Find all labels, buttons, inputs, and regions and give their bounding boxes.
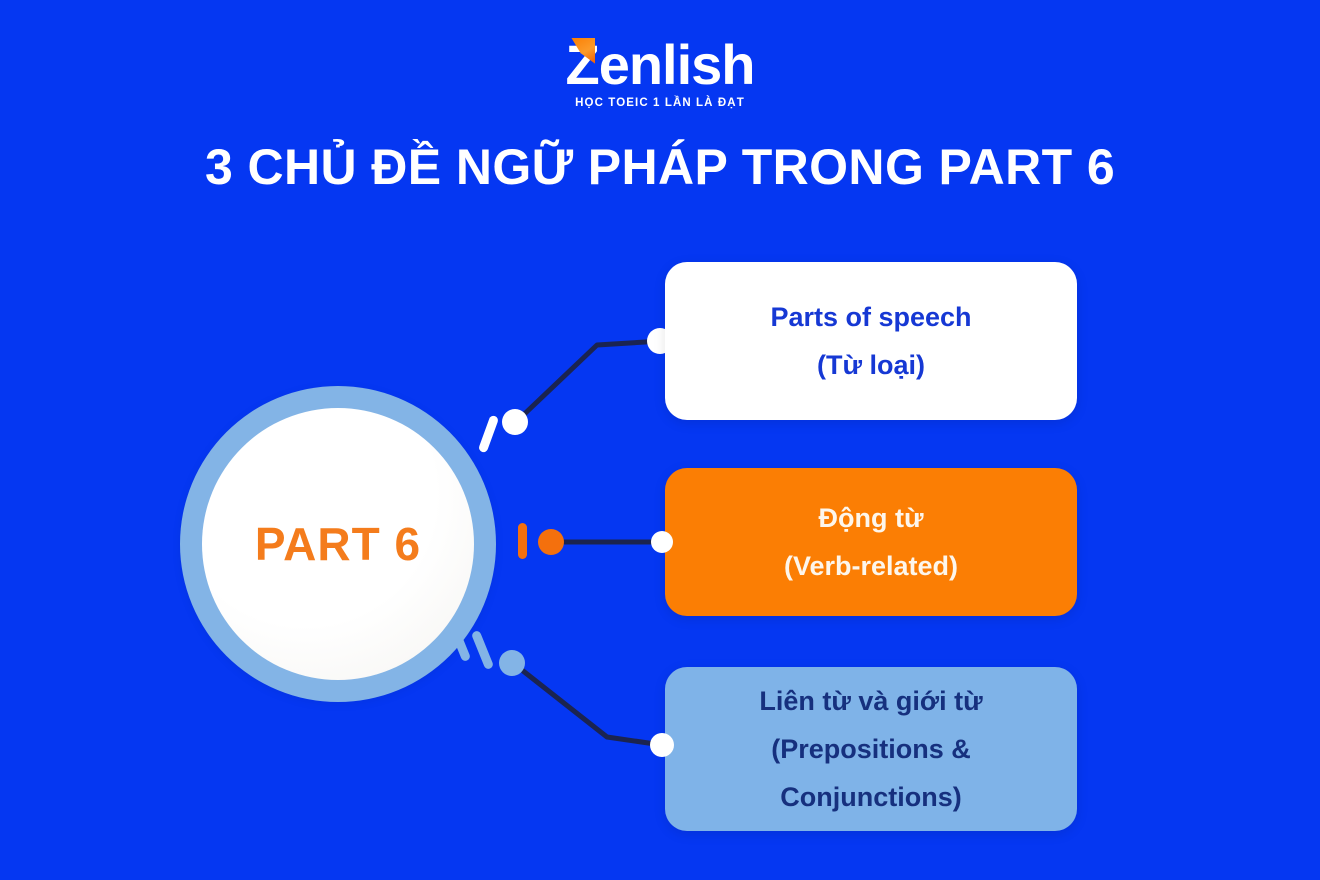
topic-card-3-line2: (Prepositions & bbox=[771, 725, 971, 773]
branch-dot-bottom-near bbox=[499, 650, 525, 676]
branch-dot-middle-near bbox=[538, 529, 564, 555]
topic-card-2-line1: Động từ bbox=[818, 494, 923, 542]
topic-card-verbs[interactable]: Động từ (Verb-related) bbox=[665, 468, 1077, 616]
infographic-canvas: Zenlish HỌC TOEIC 1 LẦN LÀ ĐẠT 3 CHỦ ĐỀ … bbox=[0, 0, 1320, 880]
hub-label: PART 6 bbox=[255, 517, 421, 571]
connector-path-top bbox=[516, 341, 662, 422]
brand-name-wrap: Zenlish bbox=[565, 36, 754, 94]
branch-dash-top bbox=[478, 415, 499, 454]
hub-circle: PART 6 bbox=[180, 386, 496, 702]
topic-card-2-line2: (Verb-related) bbox=[784, 542, 958, 590]
connector-path-bottom bbox=[513, 663, 662, 745]
branch-dot-bottom-far bbox=[650, 733, 674, 757]
topic-card-3-line1: Liên từ và giới từ bbox=[759, 677, 982, 725]
topic-card-parts-of-speech[interactable]: Parts of speech (Từ loại) bbox=[665, 262, 1077, 420]
topic-card-3-line3: Conjunctions) bbox=[780, 773, 961, 821]
branch-dot-middle-far bbox=[651, 531, 673, 553]
branch-dot-top-near bbox=[502, 409, 528, 435]
page-title: 3 CHỦ ĐỀ NGỮ PHÁP TRONG PART 6 bbox=[0, 136, 1320, 198]
topic-card-1-line1: Parts of speech bbox=[770, 293, 971, 341]
brand-name: Zenlish bbox=[565, 33, 754, 96]
topic-card-prepositions-conjunctions[interactable]: Liên từ và giới từ (Prepositions & Conju… bbox=[665, 667, 1077, 831]
branch-dash-middle bbox=[518, 523, 527, 559]
hub-circle-inner: PART 6 bbox=[202, 408, 474, 680]
topic-card-1-line2: (Từ loại) bbox=[817, 341, 925, 389]
brand-logo: Zenlish HỌC TOEIC 1 LẦN LÀ ĐẠT bbox=[0, 36, 1320, 110]
branch-dash-bottom-inner bbox=[471, 630, 494, 670]
brand-tagline: HỌC TOEIC 1 LẦN LÀ ĐẠT bbox=[0, 96, 1320, 110]
